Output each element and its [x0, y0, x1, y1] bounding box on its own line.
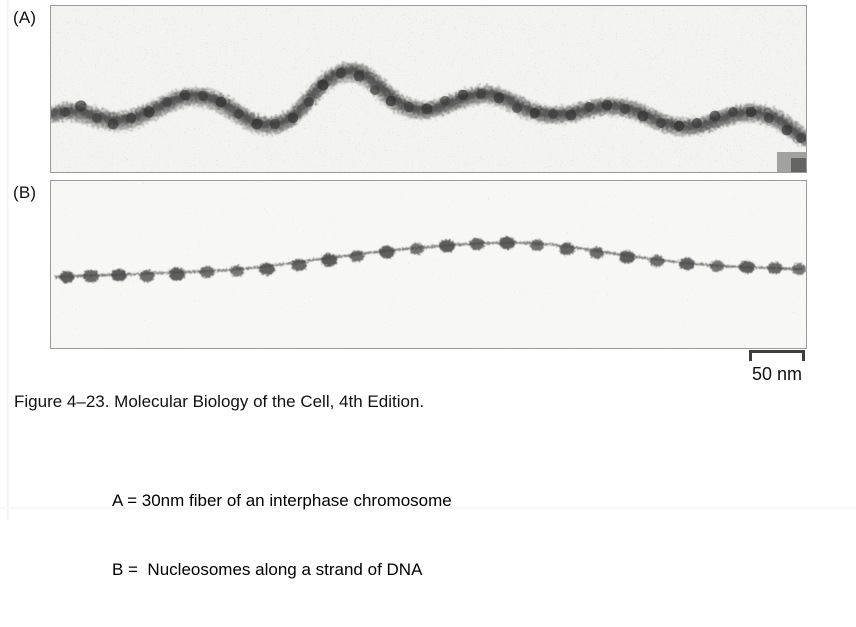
panel-b-micrograph [50, 180, 807, 349]
scale-bar-glyph [749, 350, 805, 362]
legend-line-a: A = 30nm fiber of an interphase chromoso… [112, 489, 452, 512]
panel-b-label: (B) [13, 183, 36, 203]
panel-a-label: (A) [13, 8, 36, 28]
page-left-edge [6, 0, 9, 520]
scale-bar-tick-left [749, 350, 752, 361]
panel-a-micrograph [50, 5, 807, 173]
scale-bar-label: 50 nm [744, 364, 810, 385]
figure-page: (A) [0, 0, 856, 520]
figure-legend: A = 30nm fiber of an interphase chromoso… [112, 443, 452, 627]
scale-bar-tick-right [802, 350, 805, 361]
scale-bar-group: 50 nm [744, 350, 810, 385]
scale-bar-top-rule [749, 350, 805, 353]
legend-line-b: B = Nucleosomes along a strand of DNA [112, 558, 452, 581]
figure-caption: Figure 4–23. Molecular Biology of the Ce… [14, 391, 424, 412]
